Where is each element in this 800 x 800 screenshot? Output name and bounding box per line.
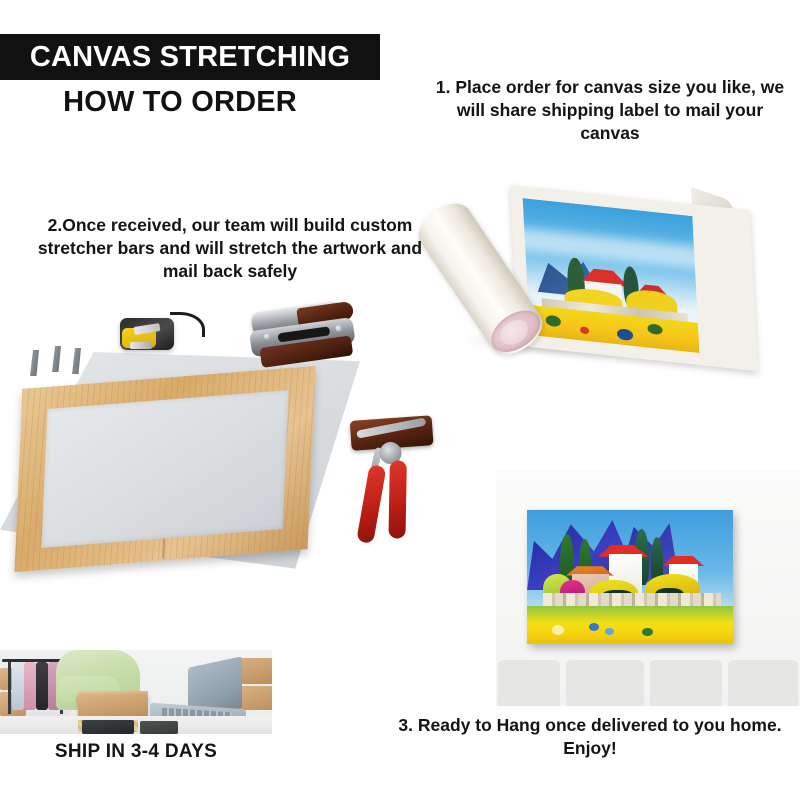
rack-leg-left xyxy=(8,662,11,714)
hanging-garment-3 xyxy=(36,662,48,710)
infographic-canvas: CANVAS STRETCHING HOW TO ORDER 1. Place … xyxy=(0,0,800,800)
shipping-time-caption: SHIP IN 3-4 DAYS xyxy=(0,740,272,765)
hanging-garment-2 xyxy=(24,662,36,710)
wedge-key-1 xyxy=(30,350,39,376)
rolled-canvas-print-photo xyxy=(446,176,796,388)
art-flower-blue-2 xyxy=(605,628,613,635)
art-flower-blue-1 xyxy=(589,623,599,631)
tape-measure-cord xyxy=(170,312,205,337)
page-subtitle: HOW TO ORDER xyxy=(0,86,360,119)
sofa-cushion-3 xyxy=(650,660,722,706)
page-title-bar: CANVAS STRETCHING xyxy=(0,34,380,80)
canvas-stretching-pliers xyxy=(345,416,434,550)
calculator xyxy=(82,720,134,734)
stretched-canvas-artwork xyxy=(527,510,733,644)
tape-measure-blade xyxy=(130,342,152,349)
mobile-phone xyxy=(140,721,178,734)
sofa-cushion-4 xyxy=(728,660,798,706)
sofa-cushion-2 xyxy=(566,660,644,706)
wedge-key-2 xyxy=(52,346,61,372)
art-flower-green xyxy=(642,628,652,636)
wooden-stretcher-frame xyxy=(14,366,315,572)
step-1-caption: 1. Place order for canvas size you like,… xyxy=(430,76,790,144)
sofa-cushion-1 xyxy=(498,660,560,706)
wedge-key-3 xyxy=(72,348,81,374)
packing-box-photo xyxy=(0,650,272,734)
framed-art-on-wall-photo xyxy=(496,470,800,706)
hanging-garment-1 xyxy=(12,662,24,710)
page-title: CANVAS STRETCHING xyxy=(30,41,350,74)
tape-measure xyxy=(120,318,174,350)
stretcher-frame-tools-photo xyxy=(0,300,440,620)
sofa-silhouette xyxy=(496,660,800,706)
step-2-caption: 2.Once received, our team will build cus… xyxy=(35,214,425,282)
art-flower-cream xyxy=(552,625,564,634)
canvas-flat-sheet xyxy=(510,185,758,372)
stacked-box-right-2 xyxy=(240,686,272,710)
pliers-handle-right xyxy=(388,460,406,538)
pliers-jaw-highlight xyxy=(356,417,426,438)
frame-opening xyxy=(41,390,288,548)
step-3-caption: 3. Ready to Hang once delivered to you h… xyxy=(385,714,795,760)
pliers-handle-left xyxy=(356,464,386,544)
